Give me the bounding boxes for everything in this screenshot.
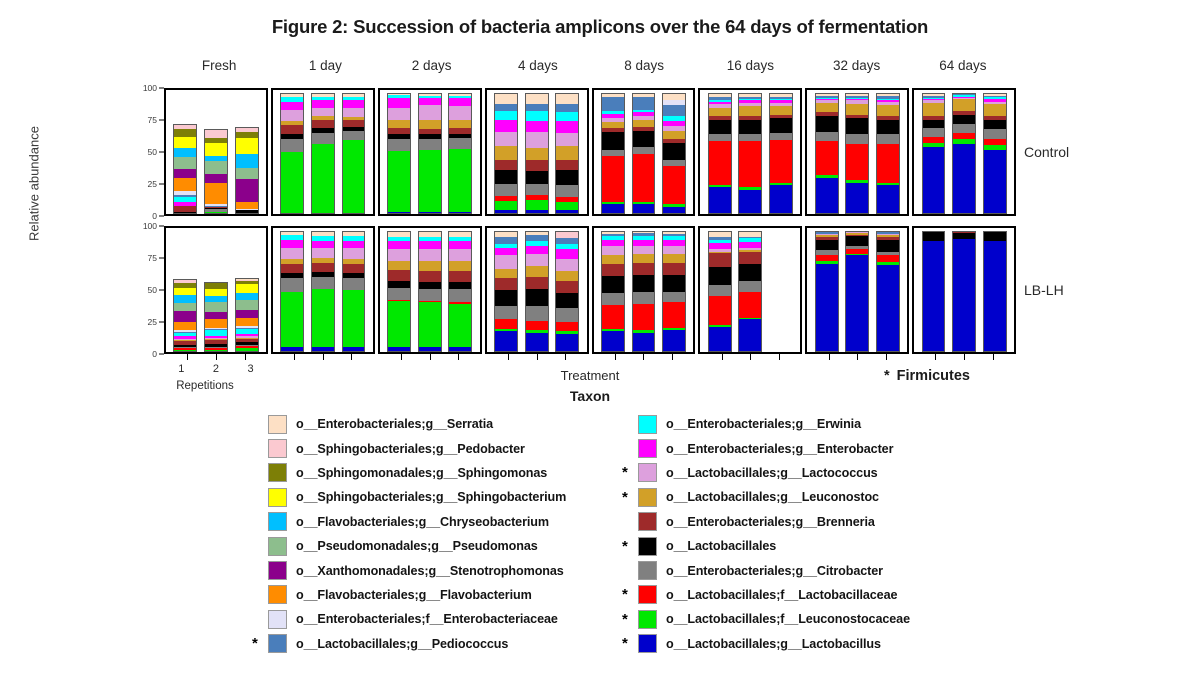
panel-lb-lh-16-days xyxy=(698,226,802,354)
segment-sphingobacterium xyxy=(235,284,259,292)
segment-serratia xyxy=(494,93,518,104)
segment-leuconostoc xyxy=(525,148,549,160)
column-header-fresh: Fresh xyxy=(166,58,272,86)
segment-lactobacillus xyxy=(311,213,335,214)
x-tick-group xyxy=(378,354,482,361)
segment-brenneria xyxy=(448,271,472,282)
panel-row-control xyxy=(164,88,1016,216)
stacked-bar[interactable] xyxy=(769,93,793,214)
segment-citrobacter xyxy=(387,288,411,300)
segment-lactobacillaceae xyxy=(632,304,656,331)
segment-lactobacillus xyxy=(845,255,869,352)
y-tick-label: 25 xyxy=(117,317,157,327)
segment-lactococcus xyxy=(387,249,411,261)
firmicutes-star-icon: * xyxy=(622,539,638,554)
panel-control-4-days xyxy=(485,88,589,216)
x-tick-mark xyxy=(964,354,965,360)
segment-citrobacter xyxy=(555,308,579,321)
segment-sphingobacterium xyxy=(173,288,197,295)
stacked-bar[interactable] xyxy=(983,231,1007,352)
stacked-bar[interactable] xyxy=(738,93,762,214)
segment-lactobacillus xyxy=(525,333,549,352)
stacked-bar[interactable] xyxy=(738,231,762,352)
segment-stenotrophomonas xyxy=(173,169,197,177)
segment-lactobacillus xyxy=(983,150,1007,214)
segment-citrobacter xyxy=(448,138,472,149)
segment-leuconostocaceae xyxy=(555,202,579,210)
segment-lactobacillales xyxy=(876,240,900,252)
legend-label-chryseobacterium: o__Flavobacteriales;g__Chryseobacterium xyxy=(296,515,549,529)
segment-brenneria xyxy=(738,252,762,264)
segment-brenneria xyxy=(632,263,656,275)
panel-control-64-days xyxy=(912,88,1016,216)
x-tick-mark xyxy=(643,354,644,360)
segment-enterobacter xyxy=(311,241,335,248)
segment-lactobacillus xyxy=(494,210,518,214)
segment-lactobacillus xyxy=(204,213,228,214)
panel-lb-lh-4-days xyxy=(485,226,589,354)
x-tick-group xyxy=(164,354,268,361)
stacked-bar[interactable] xyxy=(204,231,228,352)
segment-lactobacillus xyxy=(876,265,900,352)
segment-brenneria xyxy=(708,253,732,268)
stacked-bar[interactable] xyxy=(280,231,304,352)
x-tick-mark xyxy=(294,354,295,360)
segment-lactobacillales xyxy=(769,118,793,133)
panel-control-2-days xyxy=(378,88,482,216)
stacked-bar[interactable] xyxy=(525,231,549,352)
legend-item-lactobacillales[interactable]: *o__Lactobacillales xyxy=(622,534,910,558)
legend-item-pseudomonas[interactable]: o__Pseudomonadales;g__Pseudomonas xyxy=(252,534,566,558)
x-tick-group xyxy=(912,354,1016,361)
legend-swatch-lactobacillales xyxy=(638,537,657,556)
legend-swatch-flavobacterium xyxy=(268,585,287,604)
firmicutes-star-icon: * xyxy=(252,636,268,651)
segment-brenneria xyxy=(418,271,442,282)
segment-citrobacter xyxy=(311,277,335,289)
segment-leuconostoc xyxy=(448,261,472,271)
segment-enterobacter xyxy=(525,121,549,132)
legend-label-erwinia: o__Enterobacteriales;g__Erwinia xyxy=(666,417,861,431)
segment-citrobacter xyxy=(342,131,366,141)
x-tick-group xyxy=(698,354,802,361)
segment-lactobacillales xyxy=(494,170,518,183)
legend-column-right: o__Enterobacteriales;g__Erwiniao__Entero… xyxy=(622,412,910,656)
stacked-bar[interactable] xyxy=(311,231,335,352)
firmicutes-star-icon: * xyxy=(622,587,638,602)
segment-lactobacillales xyxy=(662,143,686,160)
stacked-bar[interactable] xyxy=(173,93,197,214)
segment-lactobacillus xyxy=(922,241,946,352)
segment-lactobacillales xyxy=(525,289,549,306)
stacked-bar[interactable] xyxy=(280,93,304,214)
x-tick-label: 2 xyxy=(202,363,229,375)
segment-leuconostoc xyxy=(601,255,625,263)
stacked-bar[interactable] xyxy=(525,93,549,214)
segment-leuconostoc xyxy=(448,120,472,128)
segment-citrobacter xyxy=(525,184,549,195)
legend-item-enterobacteriaceae[interactable]: o__Enterobacteriales;f__Enterobacteriace… xyxy=(252,607,566,631)
x-tick-group xyxy=(805,354,909,361)
segment-pediococcus xyxy=(525,104,549,111)
stacked-bar[interactable] xyxy=(876,93,900,214)
segment-lactobacillus xyxy=(280,213,304,214)
panel-control-16-days xyxy=(698,88,802,216)
segment-lactobacillaceae xyxy=(494,319,518,329)
treatment-axis-label: Treatment xyxy=(520,368,660,383)
stacked-bar[interactable] xyxy=(342,231,366,352)
legend-label-pediococcus: o__Lactobacillales;g__Pediococcus xyxy=(296,637,508,651)
segment-citrobacter xyxy=(738,134,762,141)
legend-item-leuconostocaceae[interactable]: *o__Lactobacillales;f__Leuconostocaceae xyxy=(622,607,910,631)
segment-lactobacillaceae xyxy=(876,144,900,183)
segment-pediococcus xyxy=(494,237,518,244)
segment-lactobacillaceae xyxy=(632,154,656,202)
segment-lactobacillus xyxy=(769,185,793,214)
stacked-bar[interactable] xyxy=(448,231,472,352)
segment-brenneria xyxy=(342,264,366,274)
legend-item-leuconostoc[interactable]: *o__Lactobacillales;g__Leuconostoc xyxy=(622,485,910,509)
stacked-bar[interactable] xyxy=(342,93,366,214)
segment-chryseobacterium xyxy=(173,148,197,158)
segment-citrobacter xyxy=(418,289,442,301)
segment-chryseobacterium xyxy=(235,293,259,300)
segment-lactobacillus xyxy=(311,347,335,352)
legend-item-enterobacter[interactable]: o__Enterobacteriales;g__Enterobacter xyxy=(622,436,910,460)
legend-swatch-leuconostoc xyxy=(638,488,657,507)
stacked-bar[interactable] xyxy=(983,93,1007,214)
segment-citrobacter xyxy=(708,134,732,141)
y-tick-label: 100 xyxy=(117,83,157,93)
legend-item-serratia[interactable]: o__Enterobacteriales;g__Serratia xyxy=(252,412,566,436)
x-tick-mark xyxy=(672,354,673,360)
x-tick-mark xyxy=(245,354,246,360)
segment-lactobacillaceae xyxy=(738,141,762,187)
segment-pseudomonas xyxy=(173,157,197,169)
legend-label-leuconostoc: o__Lactobacillales;g__Leuconostoc xyxy=(666,490,879,504)
stacked-bar[interactable] xyxy=(555,93,579,214)
stacked-bar[interactable] xyxy=(708,93,732,214)
stacked-bar[interactable] xyxy=(494,93,518,214)
segment-pediococcus xyxy=(601,97,625,112)
segment-enterobacter xyxy=(448,98,472,106)
segment-lactobacillus xyxy=(662,207,686,214)
segment-lactobacillaceae xyxy=(525,321,549,331)
segment-lactobacillaceae xyxy=(555,322,579,332)
segment-leuconostoc xyxy=(662,131,686,139)
legend-item-chryseobacterium[interactable]: o__Flavobacteriales;g__Chryseobacterium xyxy=(252,510,566,534)
column-header-strip: Fresh1 day2 days4 days8 days16 days32 da… xyxy=(166,58,1016,86)
stacked-bar[interactable] xyxy=(235,93,259,214)
segment-lactococcus xyxy=(280,248,304,259)
segment-citrobacter xyxy=(387,139,411,151)
stacked-bar[interactable] xyxy=(601,231,625,352)
stacked-bar[interactable] xyxy=(494,231,518,352)
segment-citrobacter xyxy=(280,139,304,152)
legend-label-lactococcus: o__Lactobacillales;g__Lactococcus xyxy=(666,466,878,480)
segment-brenneria xyxy=(311,263,335,273)
segment-lactobacillales xyxy=(525,171,549,184)
segment-leuconostoc xyxy=(418,120,442,130)
segment-lactococcus xyxy=(555,133,579,146)
segment-leuconostoc xyxy=(632,120,656,127)
segment-chryseobacterium xyxy=(235,154,259,169)
stacked-bar[interactable] xyxy=(311,93,335,214)
segment-brenneria xyxy=(601,264,625,276)
x-axis-tick-strip xyxy=(164,354,1016,361)
segment-pseudomonas xyxy=(173,303,197,311)
segment-leuconostocaceae xyxy=(387,301,411,347)
x-tick-mark xyxy=(351,354,352,360)
segment-enterobacter xyxy=(555,121,579,133)
legend-item-citrobacter[interactable]: o__Enterobacteriales;g__Citrobacter xyxy=(622,558,910,582)
stacked-bar[interactable] xyxy=(662,231,686,352)
panel-control-fresh xyxy=(164,88,268,216)
segment-brenneria xyxy=(525,277,549,289)
segment-pseudomonas xyxy=(235,300,259,310)
stacked-bar[interactable] xyxy=(632,93,656,214)
segment-flavobacterium xyxy=(204,183,228,205)
x-tick-mark xyxy=(750,354,751,360)
legend-swatch-enterobacteriaceae xyxy=(268,610,287,629)
legend: o__Enterobacteriales;g__Serratiao__Sphin… xyxy=(0,412,1200,662)
legend-item-sphingomonas[interactable]: o__Sphingomonadales;g__Sphingomonas xyxy=(252,461,566,485)
legend-item-lactobacillus[interactable]: *o__Lactobacillales;g__Lactobacillus xyxy=(622,632,910,656)
segment-sphingobacterium xyxy=(204,143,228,156)
segment-lactococcus xyxy=(418,249,442,261)
x-tick-mark xyxy=(430,354,431,360)
stacked-bar[interactable] xyxy=(235,231,259,352)
segment-citrobacter xyxy=(952,124,976,132)
segment-lactobacillales xyxy=(601,276,625,293)
stacked-bar[interactable] xyxy=(204,93,228,214)
stacked-bar[interactable] xyxy=(555,231,579,352)
stacked-bar[interactable] xyxy=(922,93,946,214)
panel-control-1-day xyxy=(271,88,375,216)
stacked-bar[interactable] xyxy=(632,231,656,352)
segment-citrobacter xyxy=(922,128,946,136)
legend-swatch-lactobacillus xyxy=(638,634,657,653)
segment-lactobacillaceae xyxy=(876,255,900,262)
segment-lactobacillales xyxy=(922,120,946,128)
segment-enterobacter xyxy=(280,240,304,248)
segment-lactobacillaceae xyxy=(662,302,686,327)
segment-sphingomonas xyxy=(173,129,197,136)
segment-citrobacter xyxy=(662,292,686,303)
segment-lactobacillales xyxy=(632,275,656,292)
x-tick-mark xyxy=(615,354,616,360)
legend-swatch-sphingomonas xyxy=(268,463,287,482)
stacked-bar[interactable] xyxy=(387,93,411,214)
column-header-8-days: 8 days xyxy=(591,58,697,86)
segment-leuconostocaceae xyxy=(525,200,549,211)
segment-leuconostoc xyxy=(494,146,518,159)
stacked-bar[interactable] xyxy=(952,93,976,214)
segment-lactobacillaceae xyxy=(708,296,732,325)
x-tick-mark xyxy=(886,354,887,360)
stacked-bar[interactable] xyxy=(387,231,411,352)
segment-citrobacter xyxy=(845,134,869,144)
segment-lactobacillus xyxy=(418,212,442,214)
segment-leuconostocaceae xyxy=(387,151,411,212)
legend-swatch-pseudomonas xyxy=(268,537,287,556)
segment-leuconostoc xyxy=(815,103,839,113)
segment-lactobacillales xyxy=(494,290,518,306)
row-label-lblh: LB-LH xyxy=(1024,282,1064,298)
segment-leuconostocaceae xyxy=(280,292,304,348)
segment-lactobacillales xyxy=(708,120,732,135)
segment-citrobacter xyxy=(708,285,732,296)
stacked-bar[interactable] xyxy=(173,231,197,352)
legend-swatch-pediococcus xyxy=(268,634,287,653)
segment-lactobacillus xyxy=(342,347,366,352)
x-tick-mark xyxy=(458,354,459,360)
segment-lactococcus xyxy=(387,108,411,120)
segment-stenotrophomonas xyxy=(235,310,259,318)
y-tick-label: 75 xyxy=(117,253,157,263)
column-header-16-days: 16 days xyxy=(697,58,803,86)
y-tick-label: 25 xyxy=(117,179,157,189)
segment-lactobacillales xyxy=(845,236,869,246)
segment-lactococcus xyxy=(311,248,335,258)
segment-leuconostoc xyxy=(983,104,1007,116)
segment-enterobacter xyxy=(494,120,518,132)
stacked-bar[interactable] xyxy=(418,231,442,352)
stacked-bar[interactable] xyxy=(952,231,976,352)
segment-lactobacillus xyxy=(418,347,442,352)
x-tick-mark xyxy=(829,354,830,360)
segment-enterobacter xyxy=(448,241,472,249)
legend-swatch-citrobacter xyxy=(638,561,657,580)
segment-lactobacillus xyxy=(983,241,1007,352)
legend-item-lactobacillaceae[interactable]: *o__Lactobacillales;f__Lactobacillaceae xyxy=(622,583,910,607)
stacked-bar[interactable] xyxy=(708,231,732,352)
row-label-control: Control xyxy=(1024,144,1069,160)
stacked-bar[interactable] xyxy=(448,93,472,214)
stacked-bar[interactable] xyxy=(845,93,869,214)
x-tick-mark xyxy=(537,354,538,360)
legend-item-stenotrophomonas[interactable]: o__Xanthomonadales;g__Stenotrophomonas xyxy=(252,558,566,582)
segment-lactobacillus xyxy=(632,204,656,214)
segment-citrobacter xyxy=(983,129,1007,139)
panel-control-32-days xyxy=(805,88,909,216)
segment-lactobacillales xyxy=(418,282,442,289)
x-tick-mark xyxy=(722,354,723,360)
legend-item-erwinia[interactable]: o__Enterobacteriales;g__Erwinia xyxy=(622,412,910,436)
segment-leuconostocaceae xyxy=(418,302,442,347)
legend-label-sphingobacterium: o__Sphingobacteriales;g__Sphingobacteriu… xyxy=(296,490,566,504)
segment-pedobacter xyxy=(555,231,579,238)
legend-label-sphingomonas: o__Sphingomonadales;g__Sphingomonas xyxy=(296,466,547,480)
x-tick-mark xyxy=(216,354,217,360)
panel-row xyxy=(164,226,1016,354)
segment-lactobacillales xyxy=(922,231,946,241)
legend-item-pedobacter[interactable]: o__Sphingobacteriales;g__Pedobacter xyxy=(252,436,566,460)
segment-lactobacillales xyxy=(983,231,1007,241)
x-tick-mark xyxy=(508,354,509,360)
segment-citrobacter xyxy=(632,292,656,304)
segment-lactobacillales xyxy=(555,170,579,185)
segment-pseudomonas xyxy=(204,161,228,174)
segment-lactococcus xyxy=(342,108,366,118)
segment-lactobacillales xyxy=(983,120,1007,130)
segment-lactobacillus xyxy=(815,264,839,352)
legend-label-leuconostocaceae: o__Lactobacillales;f__Leuconostocaceae xyxy=(666,612,910,626)
panel-lb-lh-8-days xyxy=(592,226,696,354)
legend-swatch-brenneria xyxy=(638,512,657,531)
y-tick-label: 50 xyxy=(117,147,157,157)
segment-lactobacillaceae xyxy=(662,166,686,205)
panel-lb-lh-1-day xyxy=(271,226,375,354)
y-axis-control: 0255075100 xyxy=(120,88,164,216)
segment-citrobacter xyxy=(815,132,839,142)
segment-lactobacillus xyxy=(738,190,762,214)
panel-lb-lh-32-days xyxy=(805,226,909,354)
segment-lactobacillaceae xyxy=(845,144,869,180)
segment-leuconostoc xyxy=(662,254,686,262)
segment-lactobacillales xyxy=(448,282,472,289)
stacked-bar[interactable] xyxy=(815,93,839,214)
segment-serratia xyxy=(555,93,579,104)
legend-item-pediococcus[interactable]: *o__Lactobacillales;g__Pediococcus xyxy=(252,632,566,656)
segment-lactobacillus xyxy=(342,213,366,214)
stacked-bar[interactable] xyxy=(662,93,686,214)
legend-label-flavobacterium: o__Flavobacteriales;g__Flavobacterium xyxy=(296,588,532,602)
segment-chryseobacterium xyxy=(173,295,197,302)
segment-lactobacillus xyxy=(448,212,472,214)
panel-lb-lh-64-days xyxy=(912,226,1016,354)
x-number-group xyxy=(271,363,375,375)
stacked-bar[interactable] xyxy=(922,231,946,352)
stacked-bar[interactable] xyxy=(845,231,869,352)
legend-item-lactococcus[interactable]: *o__Lactobacillales;g__Lactococcus xyxy=(622,461,910,485)
stacked-bar[interactable] xyxy=(601,93,625,214)
segment-citrobacter xyxy=(342,278,366,290)
x-tick-mark xyxy=(779,354,780,360)
stacked-bar[interactable] xyxy=(418,93,442,214)
legend-item-sphingobacterium[interactable]: o__Sphingobacteriales;g__Sphingobacteriu… xyxy=(252,485,566,509)
panel-row xyxy=(164,88,1016,216)
segment-leuconostoc xyxy=(738,106,762,116)
firmicutes-annotation: *Firmicutes xyxy=(884,368,970,384)
segment-leuconostoc xyxy=(876,105,900,116)
segment-leuconostoc xyxy=(845,104,869,115)
segment-lactobacillaceae xyxy=(738,292,762,319)
stacked-bar[interactable] xyxy=(876,231,900,352)
legend-label-lactobacillaceae: o__Lactobacillales;f__Lactobacillaceae xyxy=(666,588,897,602)
segment-lactobacillus xyxy=(952,239,976,352)
legend-swatch-erwinia xyxy=(638,415,657,434)
panel-row-lblh xyxy=(164,226,1016,354)
legend-item-flavobacterium[interactable]: o__Flavobacteriales;g__Flavobacterium xyxy=(252,583,566,607)
segment-lactobacillus xyxy=(555,210,579,214)
legend-label-stenotrophomonas: o__Xanthomonadales;g__Stenotrophomonas xyxy=(296,564,564,578)
segment-lactococcus xyxy=(342,248,366,259)
segment-pediococcus xyxy=(494,104,518,111)
legend-item-brenneria[interactable]: o__Enterobacteriales;g__Brenneria xyxy=(622,510,910,534)
segment-enterobacter xyxy=(387,98,411,108)
segment-flavobacterium xyxy=(173,322,197,330)
segment-lactobacillus xyxy=(555,334,579,352)
segment-brenneria xyxy=(311,120,335,128)
segment-sphingobacterium xyxy=(235,138,259,154)
segment-lactobacillales xyxy=(601,132,625,150)
segment-leuconostoc xyxy=(387,120,411,128)
stacked-bar[interactable] xyxy=(815,231,839,352)
segment-lactococcus xyxy=(632,246,656,254)
x-tick-label: 3 xyxy=(237,363,264,375)
y-tick-label: 50 xyxy=(117,285,157,295)
